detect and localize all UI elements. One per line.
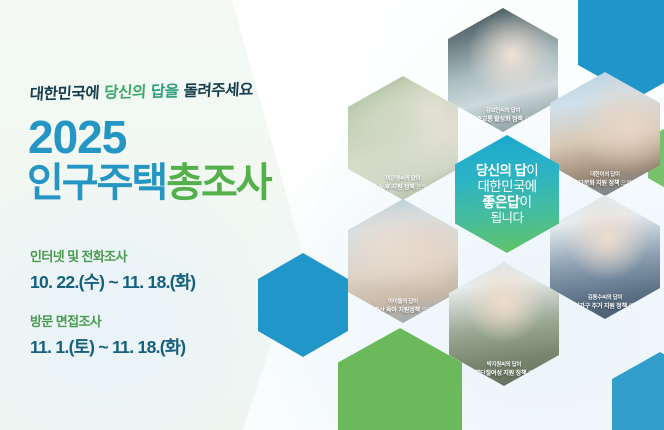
schedule-label: 인터넷 및 전화조사 [30, 246, 195, 265]
page-title-blue-part: 인구주택 [27, 161, 166, 205]
schedule-label: 방문 면접조사 [30, 311, 185, 330]
message-line-4: 됩니다 [476, 211, 538, 226]
page-title: 인구주택총조사 [27, 162, 271, 204]
schedule-value: 10. 22.(수) ~ 11. 18.(화) [30, 269, 195, 294]
center-message-text: 당신의 답이 대한민국에 좋은답이 됩니다 [476, 163, 538, 225]
census-poster: 김보민씨의 답이 대중교통 활성화 정책 으로 이은영씨의 답이 노후 지원 정… [0, 0, 664, 430]
message-line-3: 좋은답이 [476, 194, 538, 210]
tagline-accent-2: 답을 [150, 82, 184, 101]
tagline-part-1: 대한민국에 [29, 84, 105, 104]
poster-tagline: 대한민국에 당신의 답을 돌려주세요 [29, 78, 254, 105]
page-title-green-part: 총조사 [166, 161, 270, 205]
tagline-accent-1: 당신의 [104, 83, 152, 102]
message-line-1: 당신의 답이 [476, 163, 538, 179]
schedule-visit-interview: 방문 면접조사 11. 1.(토) ~ 11. 18.(화) [30, 311, 185, 359]
page-title-year: 2025 [28, 114, 126, 160]
tagline-part-2: 돌려주세요 [183, 81, 254, 100]
schedule-value: 11. 1.(토) ~ 11. 18.(화) [30, 334, 185, 359]
schedule-internet-phone: 인터넷 및 전화조사 10. 22.(수) ~ 11. 18.(화) [30, 246, 195, 294]
background-soft-glow [0, 170, 270, 430]
message-line-2: 대한민국에 [476, 179, 538, 195]
